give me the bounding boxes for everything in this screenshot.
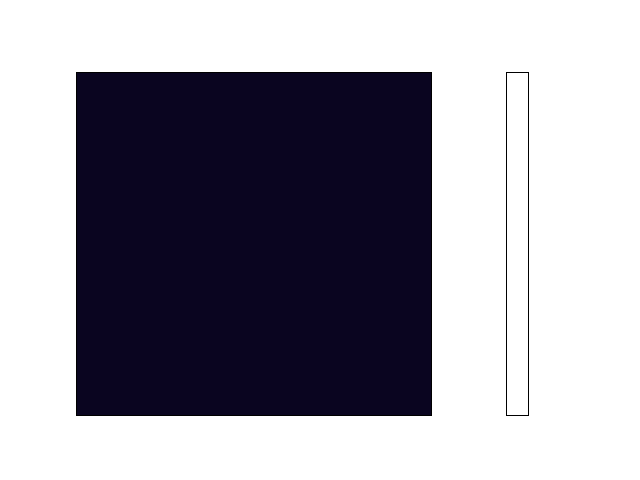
ionogram-figure (0, 0, 640, 480)
colorbar (506, 72, 529, 416)
colorbar-gradient (507, 73, 528, 415)
ionogram-plot-area (76, 72, 432, 416)
ionogram-heatmap (77, 73, 431, 415)
